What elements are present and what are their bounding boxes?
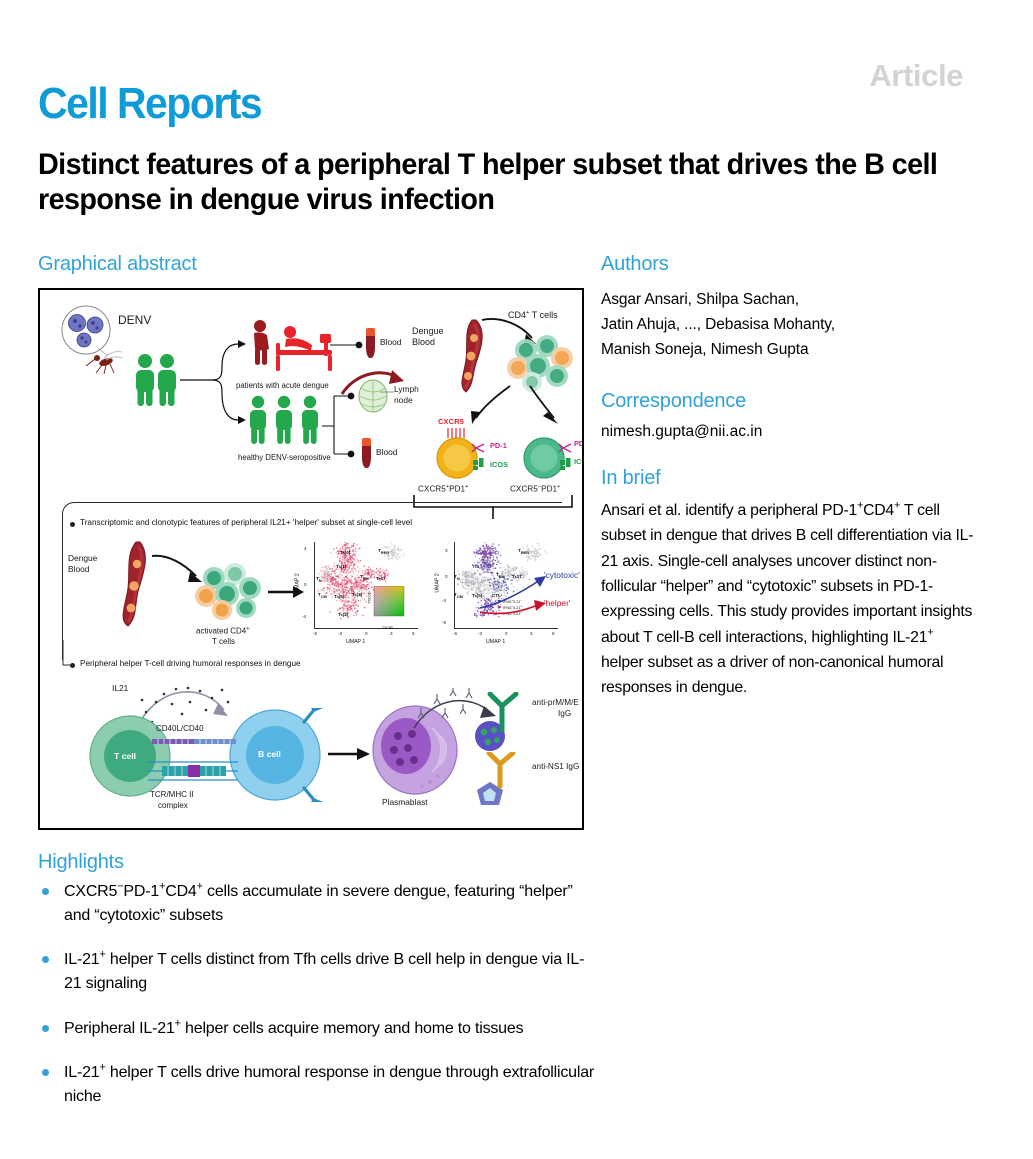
- in-brief-heading: In brief: [601, 467, 661, 490]
- correspondence-email[interactable]: nimesh.gupta@nii.ac.in: [601, 420, 981, 443]
- highlights-list: CXCR5−PD-1+CD4+ cells accumulate in seve…: [38, 880, 598, 1130]
- page-title: Distinct features of a peripheral T help…: [38, 148, 964, 218]
- helper-annotation-arrow: [478, 590, 552, 622]
- healthy-seropositive-label: healthy DENV-seropositive: [238, 454, 331, 463]
- in-brief-text: Ansari et al. identify a peripheral PD-1…: [601, 498, 976, 701]
- helper-annotation-label: 'helper': [544, 598, 570, 608]
- blood-label-bottom: Blood: [376, 448, 397, 458]
- panel-2-title: Transcriptomic and clonotypic features o…: [80, 518, 412, 527]
- bullet-icon: [42, 888, 49, 895]
- panel2-dengue-blood-line1: Dengue: [68, 554, 97, 564]
- highlight-text: IL-21+ helper T cells distinct from Tfh …: [64, 951, 584, 992]
- mosquito-icon: [82, 346, 128, 376]
- cd4-t-cells-label: CD4+ T cells: [508, 310, 558, 320]
- activated-cd4-cluster-icon: [192, 562, 266, 624]
- highlight-item: IL-21+ helper T cells drive humoral resp…: [38, 1061, 598, 1108]
- highlight-text: CXCR5−PD-1+CD4+ cells accumulate in seve…: [64, 883, 573, 924]
- activated-cd4-label-line1: activated CD4+: [196, 626, 250, 636]
- graphical-abstract-heading: Graphical abstract: [38, 253, 197, 276]
- panel-2-bullet: [70, 522, 75, 527]
- cxcr5-pos-cell-icon: [430, 426, 496, 482]
- highlights-heading: Highlights: [38, 851, 124, 874]
- tcr-mhc-label-line2: complex: [158, 801, 188, 810]
- to-dengue-blood-arrow: [340, 366, 408, 400]
- icos-label-right: ICOS: [574, 458, 584, 467]
- panel-3-title: Peripheral helper T-cell driving humoral…: [80, 659, 301, 668]
- cxcr5-neg-cell-icon: [518, 430, 580, 482]
- activated-cd4-label-line2: T cells: [212, 637, 235, 646]
- article-cover-page: Article Cell Reports Distinct features o…: [0, 0, 1033, 1159]
- icos-label-left: ICOS: [490, 461, 508, 470]
- anti-prm-label-line2: IgG: [558, 709, 571, 718]
- subset-label-right: CXCR5−PD1+: [510, 484, 560, 494]
- authors-heading: Authors: [601, 253, 669, 276]
- blood-label-top: Blood: [380, 338, 401, 348]
- patient-to-blood-connector: [330, 338, 370, 352]
- cd40l-cd40-label: CD40L/CD40: [156, 724, 204, 733]
- highlight-text: Peripheral IL-21+ helper cells acquire m…: [64, 1020, 523, 1037]
- anti-prm-label-line1: anti-prM/M/E: [532, 698, 579, 707]
- umap1-2d-colorbar: [368, 586, 408, 626]
- pd1-label-right: PD-1: [574, 440, 584, 449]
- dengue-blood-label-line1: Dengue: [412, 326, 444, 336]
- t-cell-label: T cell: [114, 752, 136, 762]
- highlight-item: Peripheral IL-21+ helper cells acquire m…: [38, 1017, 598, 1041]
- dengue-blood-label-line2: Blood: [412, 337, 435, 347]
- umap-plot-1: 4 0 -4 -6 -3 0 3 6 UMAP 1 UMAP 2 Tₕ(4) T…: [302, 538, 422, 650]
- tcr-mhc-label-line1: TCR/MHC II: [150, 790, 194, 799]
- pd1-label-left: PD-1: [490, 442, 507, 451]
- authors-list: Asgar Ansari, Shilpa Sachan, Jatin Ahuja…: [601, 287, 981, 362]
- graphical-abstract-figure: DENV: [38, 288, 584, 830]
- correspondence-heading: Correspondence: [601, 390, 746, 413]
- umap2-y-axis-label: UMAP 2: [435, 573, 441, 592]
- umap1-x-axis-label: UMAP 1: [346, 639, 365, 645]
- highlight-text: IL-21+ helper T cells drive humoral resp…: [64, 1064, 594, 1105]
- healthy-seropositive-people-icon: [246, 394, 326, 452]
- tcr-mhc-complex-icon: [148, 756, 240, 788]
- denv-label: DENV: [118, 314, 151, 328]
- blood-tube-bottom-icon: [362, 438, 371, 468]
- panel-3-connector: [60, 640, 76, 668]
- subset-label-left: CXCR5+PD1+: [418, 484, 468, 494]
- umap1-colorbar-x-label: CXCR5: [382, 626, 393, 630]
- article-type-tag: Article: [869, 58, 963, 94]
- il21-label: IL21: [112, 684, 128, 694]
- cytotoxic-annotation-label: 'cytotoxic': [544, 570, 580, 580]
- highlight-item: IL-21+ helper T cells distinct from Tfh …: [38, 948, 598, 995]
- authors-line-3: Manish Soneja, Nimesh Gupta: [601, 337, 981, 362]
- green-people-group-icon: [132, 352, 184, 408]
- authors-line-1: Asgar Ansari, Shilpa Sachan,: [601, 287, 981, 312]
- anti-prm-antibody-icon: [472, 692, 530, 754]
- bcell-to-plasmablast-arrow: [328, 746, 372, 762]
- authors-line-2: Jatin Ahuja, ..., Debasisa Mohanty,: [601, 312, 981, 337]
- bullet-icon: [42, 956, 49, 963]
- bullet-icon: [42, 1025, 49, 1032]
- umap2-x-axis-label: UMAP 1: [486, 639, 505, 645]
- blood-tube-top-icon: [366, 328, 375, 358]
- plasmablast-label: Plasmablast: [382, 798, 428, 808]
- cd40l-cd40-bridge-icon: [152, 736, 238, 748]
- acute-dengue-patients-icon: [246, 316, 338, 378]
- b-cell-label: B cell: [258, 750, 281, 760]
- bullet-icon: [42, 1069, 49, 1076]
- acute-dengue-patients-label: patients with acute dengue: [236, 382, 329, 391]
- anti-ns1-antibody-icon: [472, 752, 530, 812]
- anti-ns1-label: anti-NS1 IgG: [532, 762, 579, 771]
- highlight-item: CXCR5−PD-1+CD4+ cells accumulate in seve…: [38, 880, 598, 927]
- umap1-y-axis-label: UMAP 2: [295, 573, 301, 592]
- journal-logo: Cell Reports: [38, 82, 261, 126]
- umap1-colorbar-y-label: PDCD1: [367, 593, 371, 604]
- panel2-dengue-blood-line2: Blood: [68, 565, 89, 575]
